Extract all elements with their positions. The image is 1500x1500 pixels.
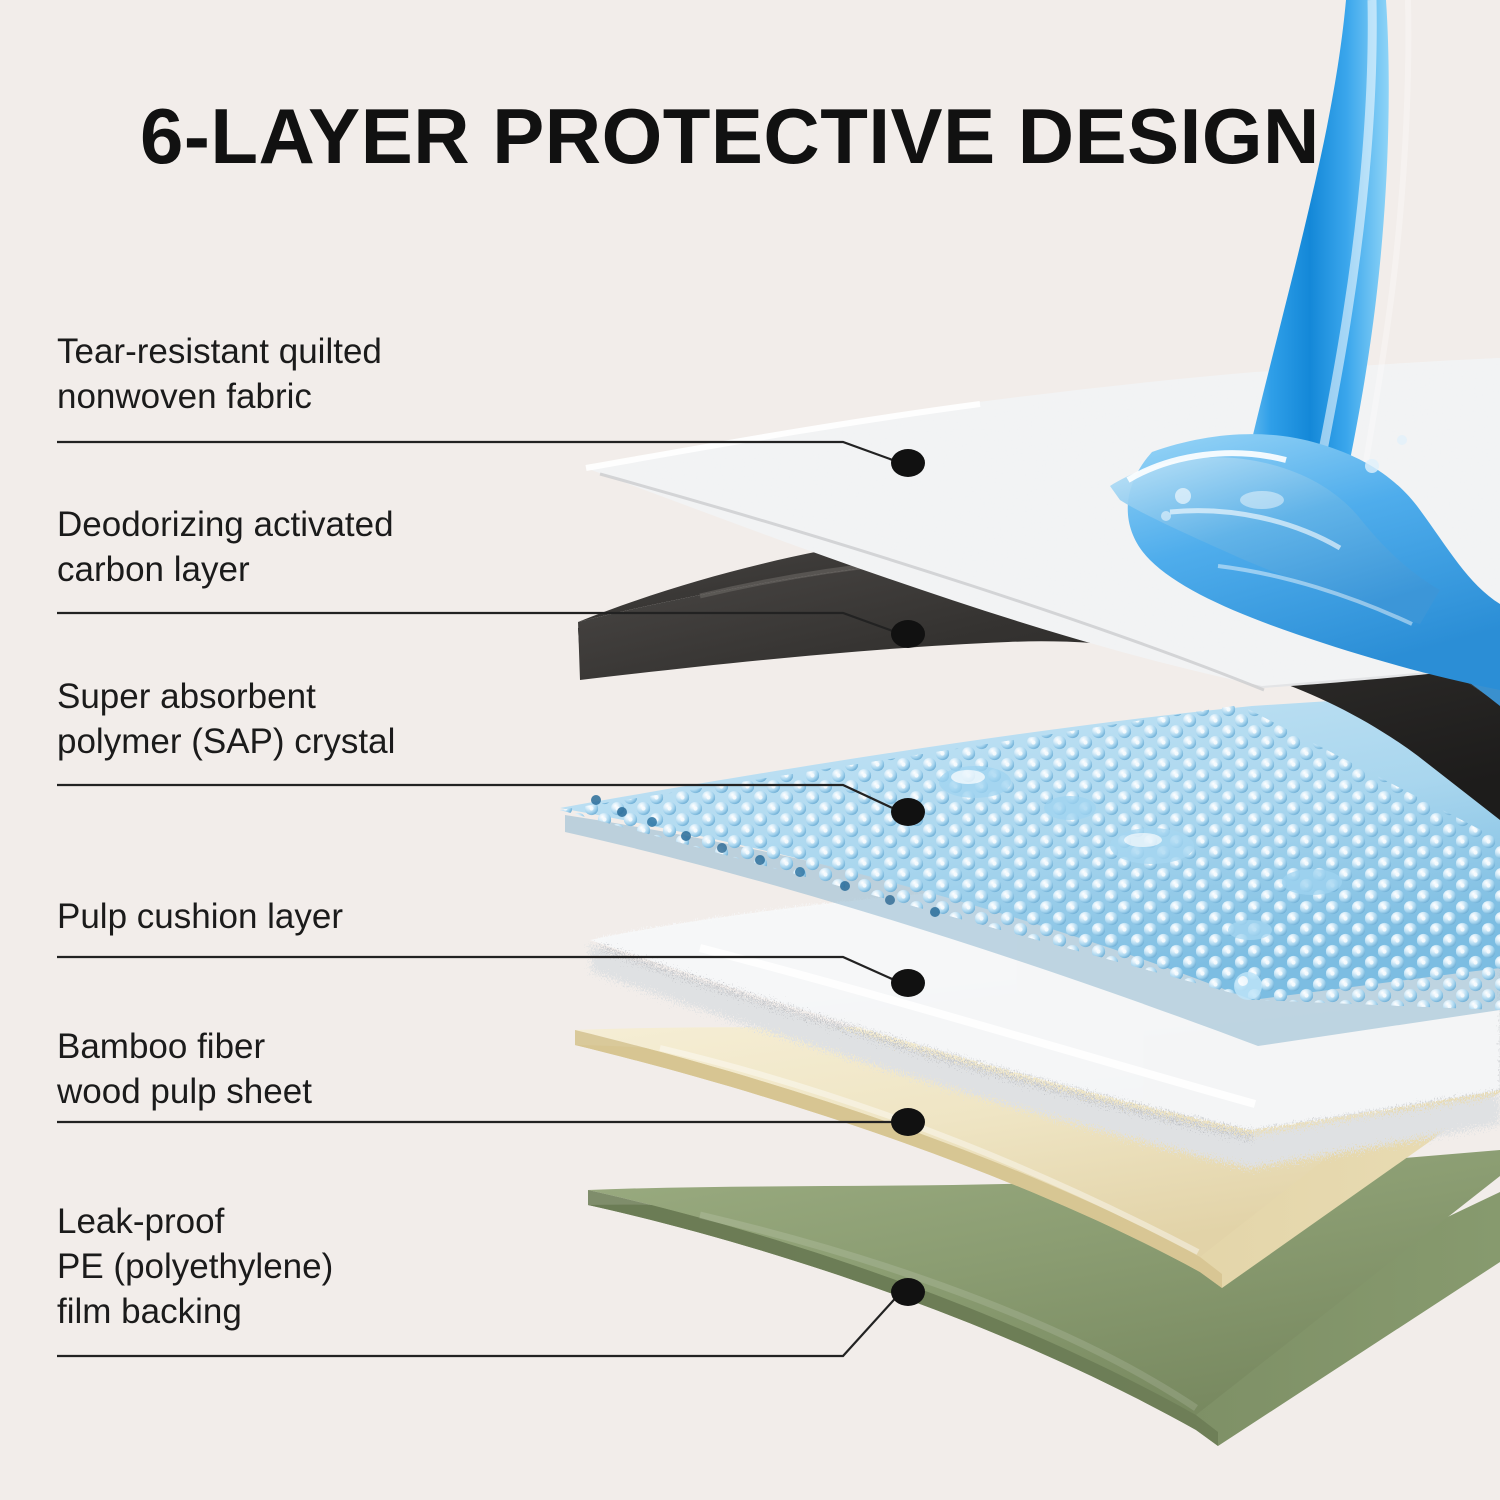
leader-line-3 (57, 785, 901, 812)
leader-dot-3 (891, 798, 925, 826)
infographic-canvas: 6-LAYER PROTECTIVE DESIGN Tear-resistant… (0, 0, 1500, 1500)
leader-dot-1 (891, 449, 925, 477)
leader-line-1 (57, 442, 901, 463)
leader-dot-4 (891, 969, 925, 997)
leader-lines-group (0, 0, 1500, 1500)
leader-dot-2 (891, 620, 925, 648)
leader-line-6 (57, 1292, 901, 1356)
leader-line-4 (57, 957, 901, 983)
leader-dot-6 (891, 1278, 925, 1306)
leader-dot-5 (891, 1108, 925, 1136)
leader-line-2 (57, 613, 901, 634)
